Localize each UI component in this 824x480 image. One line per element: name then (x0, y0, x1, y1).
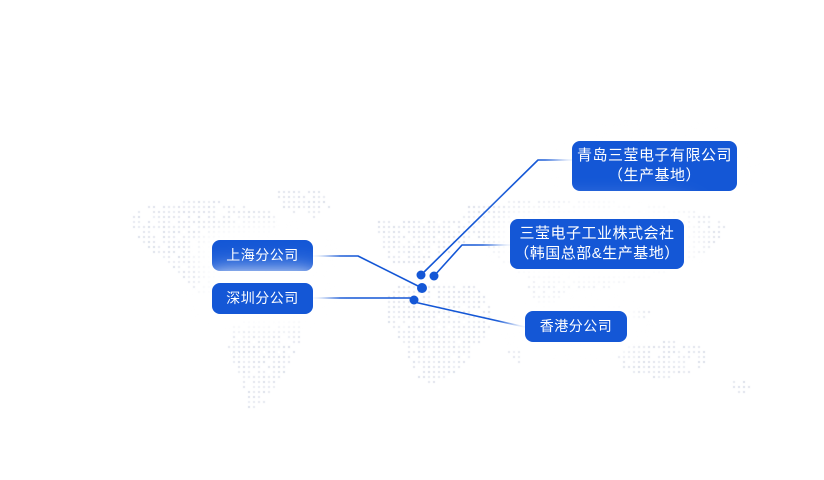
node-shanghai[interactable] (417, 283, 427, 293)
map-stage: 青岛三莹电子有限公司（生产基地）三莹电子工业株式会社（韩国总部&生产基地）上海分… (0, 0, 824, 480)
label-shanghai[interactable]: 上海分公司 (212, 240, 313, 271)
label-qingdao[interactable]: 青岛三莹电子有限公司（生产基地） (572, 141, 737, 191)
connector-hongkong (414, 302, 525, 327)
label-hongkong-line-1: 香港分公司 (540, 317, 613, 335)
node-shenzhen[interactable] (410, 296, 419, 305)
label-qingdao-line-1: 青岛三莹电子有限公司 (577, 146, 732, 166)
label-shenzhen[interactable]: 深圳分公司 (212, 283, 313, 314)
label-shenzhen-line-1: 深圳分公司 (226, 289, 299, 307)
node-korea[interactable] (430, 272, 439, 281)
node-qingdao[interactable] (417, 271, 426, 280)
label-shanghai-line-1: 上海分公司 (226, 246, 299, 264)
connector-shanghai (313, 256, 422, 288)
label-qingdao-line-2: （生产基地） (608, 166, 701, 186)
label-korea-hq-line-2: （韩国总部&生产基地） (514, 244, 680, 264)
label-korea-hq[interactable]: 三莹电子工业株式会社（韩国总部&生产基地） (510, 219, 684, 269)
label-hongkong[interactable]: 香港分公司 (525, 311, 627, 342)
label-korea-hq-line-1: 三莹电子工业株式会社 (519, 224, 674, 244)
connector-lines (0, 0, 824, 480)
connector-korea (434, 245, 510, 276)
